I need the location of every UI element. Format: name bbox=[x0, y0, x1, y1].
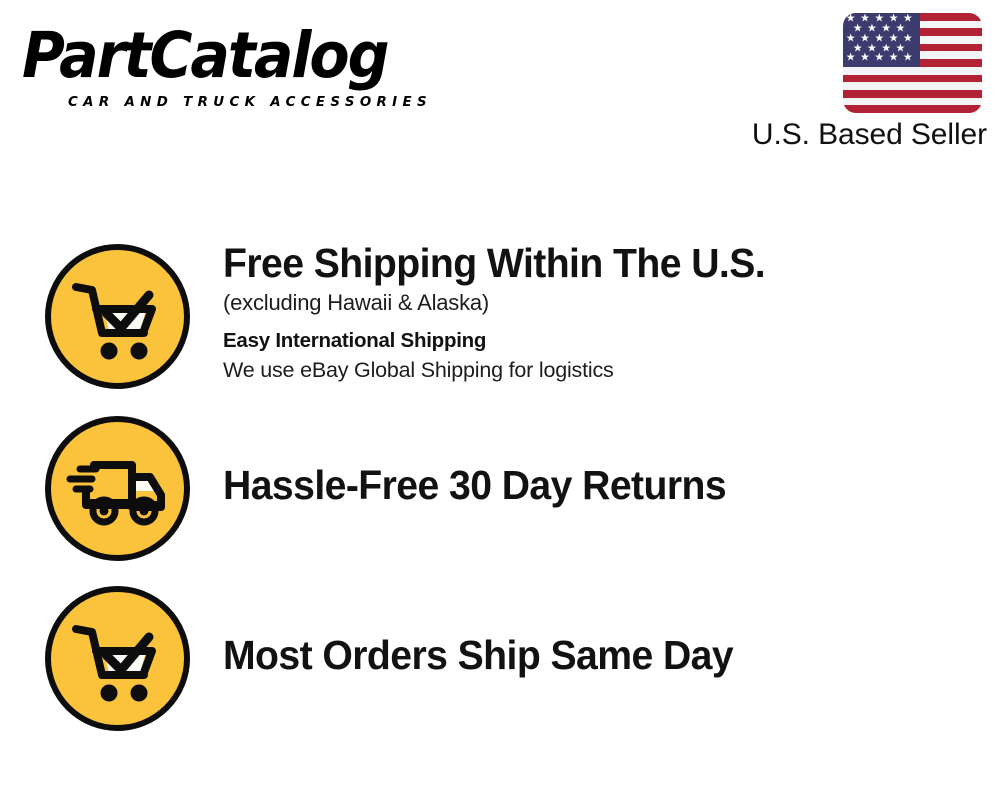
us-based-seller-label: U.S. Based Seller bbox=[725, 118, 987, 152]
flag-star: ★ bbox=[903, 53, 913, 64]
flag-stripe bbox=[843, 90, 982, 98]
feature-text-same-day: Most Orders Ship Same Day bbox=[223, 632, 990, 678]
brand-tagline: CAR AND TRUCK ACCESSORIES bbox=[68, 94, 432, 110]
delivery-truck-icon bbox=[45, 416, 190, 561]
brand-logo: PartCatalog CAR AND TRUCK ACCESSORIES bbox=[22, 24, 492, 114]
flag-star: ★ bbox=[846, 53, 856, 64]
feature-text-free-shipping: Free Shipping Within The U.S. (excluding… bbox=[223, 240, 990, 385]
flag-stripe bbox=[843, 105, 982, 113]
shopping-cart-check-icon bbox=[45, 244, 190, 389]
feature-text-returns: Hassle-Free 30 Day Returns bbox=[223, 462, 990, 508]
flag-stripe bbox=[843, 75, 982, 83]
feature-headline: Most Orders Ship Same Day bbox=[223, 632, 955, 678]
flag-canton: ★ ★ ★ ★ ★ ★ ★ ★ ★ ★ ★ ★ ★ ★ ★ ★ ★ ★ ★ ★ … bbox=[843, 13, 920, 67]
feature-headline: Free Shipping Within The U.S. bbox=[223, 240, 955, 286]
flag-star: ★ bbox=[874, 53, 884, 64]
feature-headline: Hassle-Free 30 Day Returns bbox=[223, 462, 955, 508]
feature-subline: (excluding Hawaii & Alaska) bbox=[223, 288, 990, 318]
feature-row-returns: Hassle-Free 30 Day Returns bbox=[0, 416, 1000, 566]
feature-row-free-shipping: Free Shipping Within The U.S. (excluding… bbox=[0, 244, 1000, 404]
feature-subhead-note: We use eBay Global Shipping for logistic… bbox=[223, 355, 990, 385]
flag-star: ★ bbox=[889, 53, 899, 64]
feature-subhead-bold: Easy International Shipping bbox=[223, 326, 990, 355]
feature-row-same-day-shipping: Most Orders Ship Same Day bbox=[0, 586, 1000, 738]
brand-wordmark: PartCatalog bbox=[22, 24, 459, 88]
shopping-cart-check-icon bbox=[45, 586, 190, 731]
flag-star: ★ bbox=[860, 53, 870, 64]
us-flag-icon: ★ ★ ★ ★ ★ ★ ★ ★ ★ ★ ★ ★ ★ ★ ★ ★ ★ ★ ★ ★ … bbox=[843, 13, 982, 113]
